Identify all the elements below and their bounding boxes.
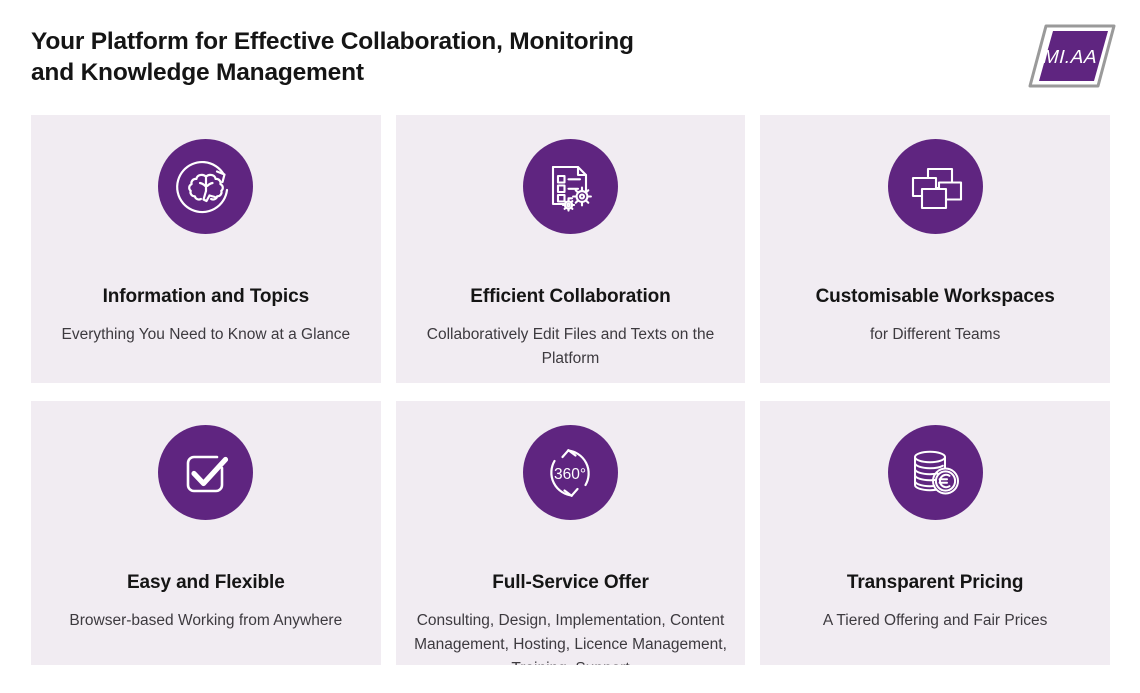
feature-card[interactable]: Customisable Workspaces for Different Te… <box>760 115 1110 383</box>
feature-card-description: Collaboratively Edit Files and Texts on … <box>414 323 728 371</box>
feature-card-description: Consulting, Design, Implementation, Cont… <box>414 609 728 665</box>
feature-card[interactable]: Efficient Collaboration Collaboratively … <box>396 115 746 383</box>
document-gears-icon <box>523 139 618 234</box>
logo-wordmark: MI.AA <box>1040 47 1099 68</box>
coin-stack-euro-icon <box>888 425 983 520</box>
miaa-logo[interactable]: MI.AA <box>1026 22 1118 90</box>
feature-card-description: Everything You Need to Know at a Glance <box>61 323 350 347</box>
feature-card-grid: Information and Topics Everything You Ne… <box>31 115 1110 665</box>
page-header: Your Platform for Effective Collaboratio… <box>0 0 1140 115</box>
page-title-line-1: Your Platform for Effective Collaboratio… <box>31 26 791 57</box>
checkbox-check-icon <box>158 425 253 520</box>
icon-label-360: 360° <box>554 466 586 483</box>
feature-card-description: A Tiered Offering and Fair Prices <box>823 609 1048 633</box>
feature-card[interactable]: Easy and Flexible Browser-based Working … <box>31 401 381 665</box>
feature-card[interactable]: Information and Topics Everything You Ne… <box>31 115 381 383</box>
feature-card-title: Easy and Flexible <box>127 571 285 595</box>
feature-card-title: Full-Service Offer <box>492 571 649 595</box>
feature-card-title: Information and Topics <box>103 285 309 309</box>
brain-refresh-icon <box>158 139 253 234</box>
feature-card-description: Browser-based Working from Anywhere <box>69 609 342 633</box>
feature-card-description: for Different Teams <box>870 323 1000 347</box>
overlapping-windows-icon <box>888 139 983 234</box>
feature-card-title: Customisable Workspaces <box>816 285 1055 309</box>
feature-card[interactable]: Transparent Pricing A Tiered Offering an… <box>760 401 1110 665</box>
page-title: Your Platform for Effective Collaboratio… <box>31 26 791 88</box>
page-title-line-2: and Knowledge Management <box>31 57 791 88</box>
360-degrees-arrows-icon: 360° <box>523 425 618 520</box>
feature-card[interactable]: 360° Full-Service Offer Consulting, Desi… <box>396 401 746 665</box>
feature-card-title: Transparent Pricing <box>847 571 1024 595</box>
feature-card-title: Efficient Collaboration <box>470 285 670 309</box>
